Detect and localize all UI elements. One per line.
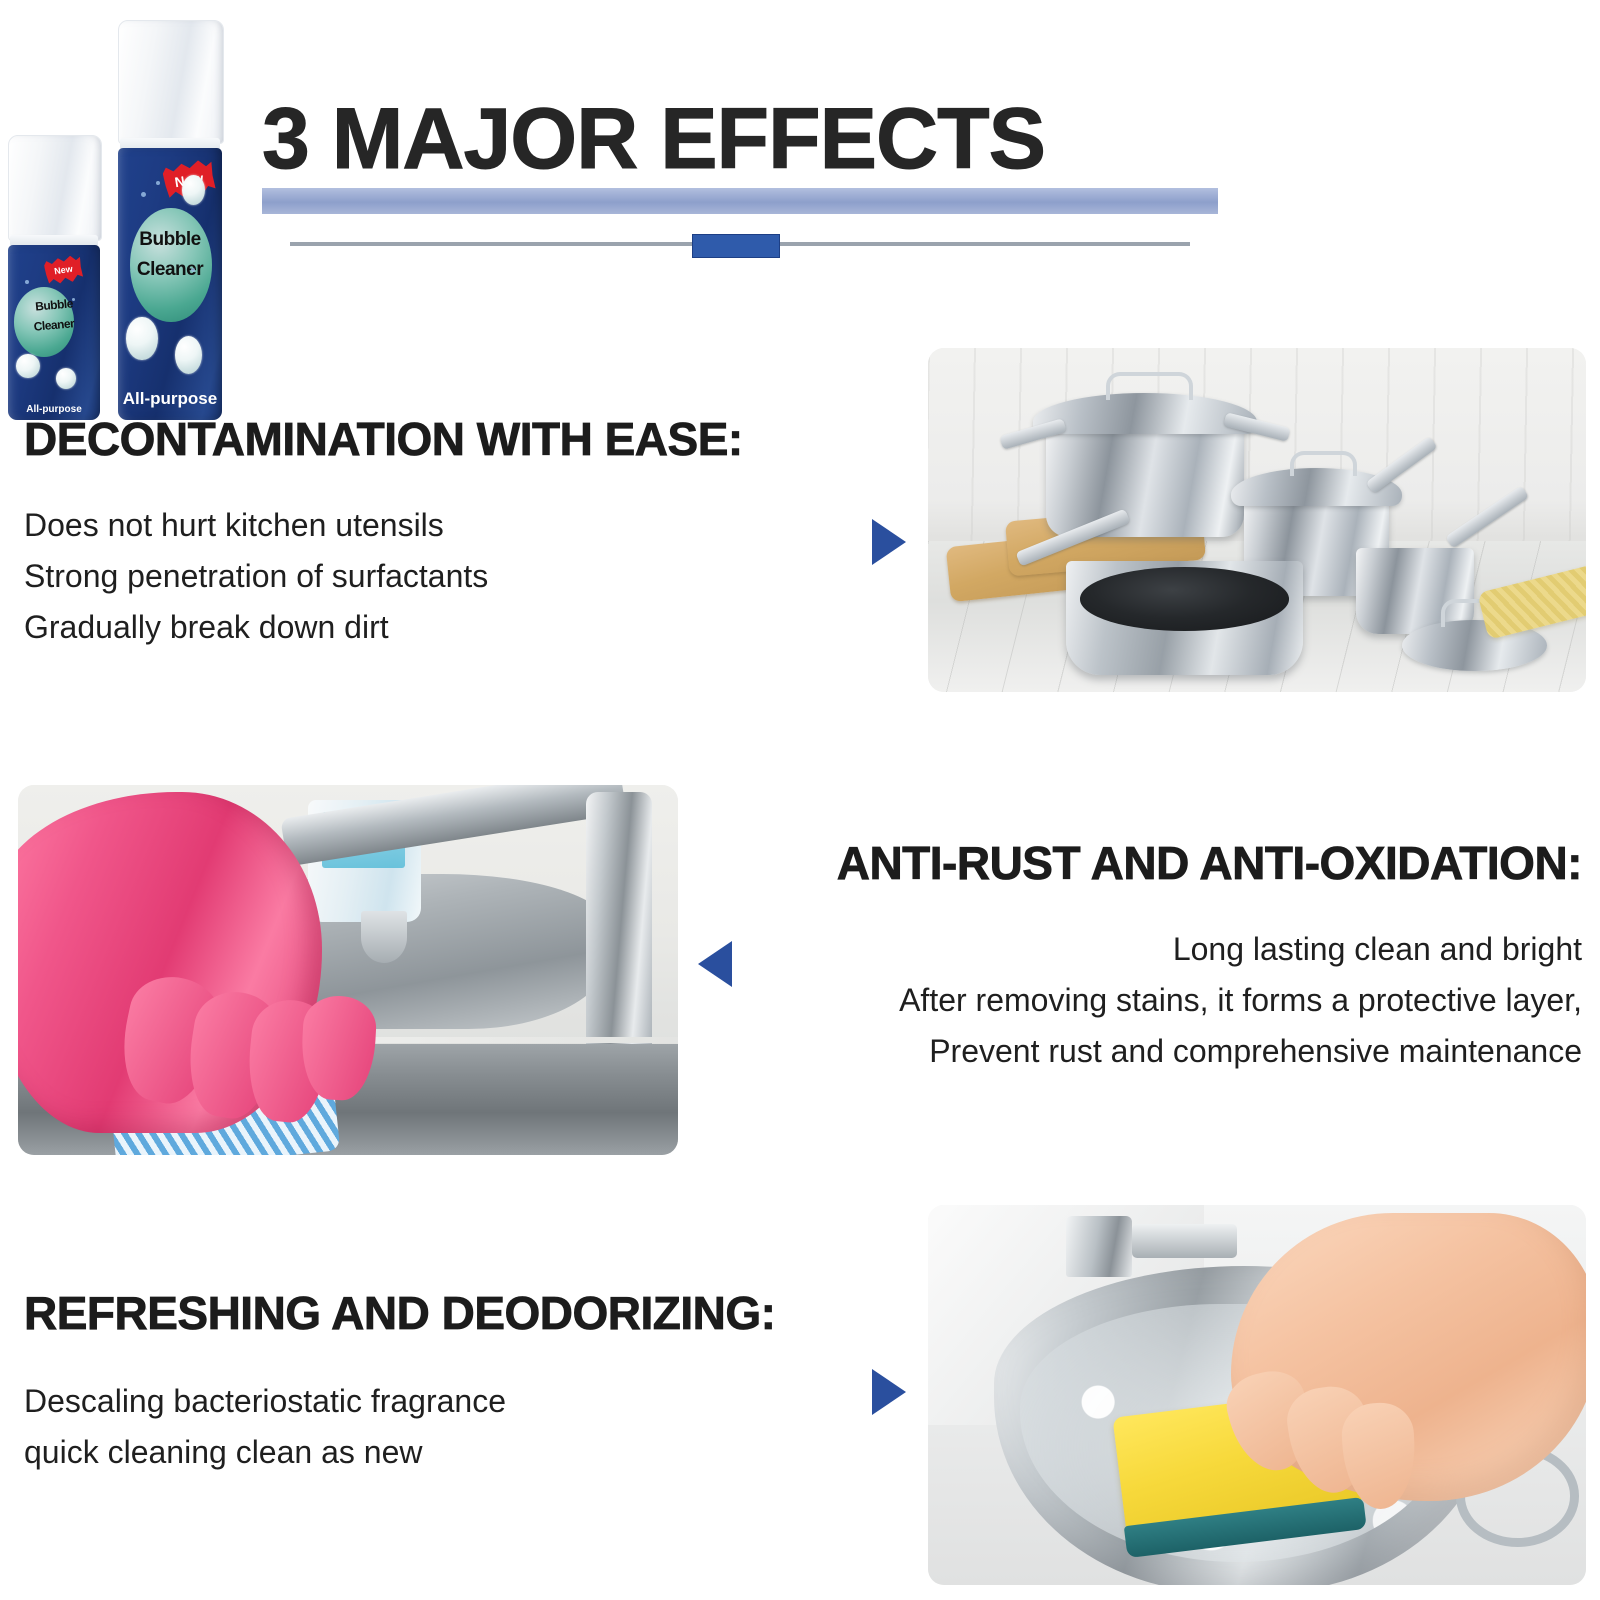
section-refreshing: REFRESHING AND DEODORIZING: Descaling ba… [24,1286,904,1478]
photo-cookware-set [928,348,1586,692]
section-heading: REFRESHING AND DEODORIZING: [24,1286,904,1340]
body-line: Gradually break down dirt [24,602,904,653]
faucet [586,792,652,1058]
pump-cap [118,20,224,144]
small-bottle: New Bubble Cleaner All-purpose [8,135,100,420]
pump-cap [8,135,102,241]
dot-graphic [141,192,146,197]
bubble-graphic [126,317,157,361]
stock-pot [1046,417,1243,537]
skillet [1066,561,1303,675]
section-body: Long lasting clean and bright After remo… [682,924,1582,1078]
dot-graphic [25,280,29,284]
new-badge: New [43,255,83,287]
dot-graphic [156,181,160,185]
arrow-left-icon [698,941,732,987]
lid-handle [1290,451,1357,476]
brand-line-2: Cleaner [118,260,222,279]
page-title: 3 MAJOR EFFECTS [262,96,1222,182]
brand-line-1: Bubble [118,230,222,249]
title-divider [262,234,1218,254]
bubble-graphic [182,175,205,205]
body-line: Does not hurt kitchen utensils [24,500,904,551]
section-heading: ANTI-RUST AND ANTI-OXIDATION: [682,836,1582,890]
bubble-graphic [56,368,76,389]
body-line: Strong penetration of surfactants [24,551,904,602]
faucet-knob [1066,1216,1132,1277]
bubble-graphic [16,354,40,379]
body-line: Descaling bacteriostatic fragrance [24,1376,904,1427]
body-line: Long lasting clean and bright [682,924,1582,975]
body-line: Prevent rust and comprehensive maintenan… [682,1026,1582,1077]
bottle-label: New Bubble Cleaner All-purpose [8,245,100,420]
section-antirust: ANTI-RUST AND ANTI-OXIDATION: Long lasti… [682,836,1582,1078]
section-body: Descaling bacteriostatic fragrance quick… [24,1376,904,1478]
section-decontamination: DECONTAMINATION WITH EASE: Does not hurt… [24,412,904,654]
faucet-spout [1132,1224,1237,1258]
large-bottle: New Bubble Cleaner All-purpose [118,20,222,420]
body-line: After removing stains, it forms a protec… [682,975,1582,1026]
bottle-label: New Bubble Cleaner All-purpose [118,148,222,420]
bubble-graphic [175,336,202,374]
arrow-right-icon [872,1369,906,1415]
dot-graphic [191,268,195,272]
title-accent-bar [262,188,1218,214]
section-heading: DECONTAMINATION WITH EASE: [24,412,904,466]
arrow-right-icon [872,519,906,565]
body-line: quick cleaning clean as new [24,1427,904,1478]
product-bottles-image: New Bubble Cleaner All-purpose New Bubbl… [0,0,250,420]
soap-pump [361,911,407,963]
bottle-subtitle: All-purpose [118,389,222,409]
divider-marker [692,234,780,258]
lid-handle [1106,372,1193,400]
header: 3 MAJOR EFFECTS [262,96,1222,254]
photo-sponge-pot [928,1205,1586,1585]
photo-glove-sink [18,785,678,1155]
section-body: Does not hurt kitchen utensils Strong pe… [24,500,904,654]
